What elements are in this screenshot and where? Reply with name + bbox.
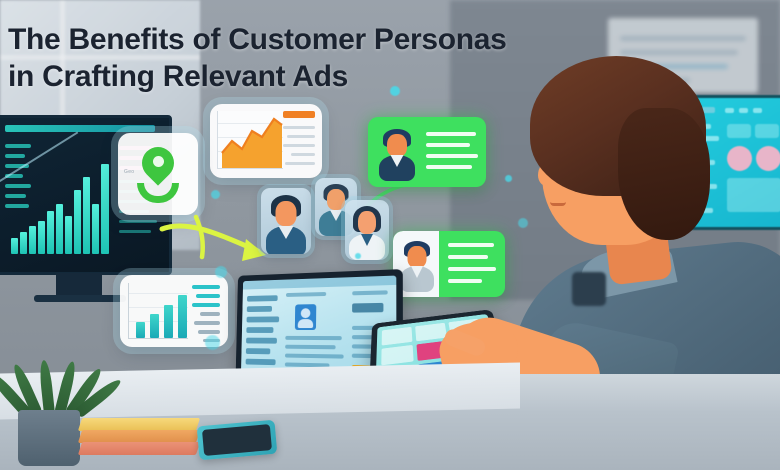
persona-profile-card-green-1[interactable]: [368, 117, 486, 187]
coffee-mug: [572, 272, 606, 306]
pin-arc-icon: [137, 183, 179, 203]
potted-plant: [10, 352, 90, 462]
laptop-avatar-tile: [295, 304, 316, 330]
location-pin-icon: [142, 147, 174, 185]
book-stack: [80, 418, 198, 456]
geo-targeting-card[interactable]: Geo: [118, 133, 198, 215]
geo-card-caption: Geo: [124, 169, 134, 175]
glow-dot: [355, 253, 361, 259]
bar-chart-group: [11, 158, 111, 254]
trend-chart-card[interactable]: [210, 104, 322, 178]
glow-dot: [205, 335, 220, 350]
smartphone[interactable]: [197, 420, 278, 461]
page-title: The Benefits of Customer Personas in Cra…: [8, 22, 528, 95]
title-line-2: in Crafting Relevant Ads: [8, 59, 528, 96]
area-chart: [217, 111, 283, 169]
glow-dot: [211, 190, 220, 199]
avatar: [378, 129, 416, 179]
bar-chart: [128, 283, 188, 339]
title-line-1: The Benefits of Customer Personas: [8, 22, 528, 59]
persona-avatar-1[interactable]: [261, 188, 311, 254]
card-accent-bar: [283, 111, 315, 118]
persona-avatar-3[interactable]: [345, 200, 389, 260]
illustration-canvas: Geo: [0, 0, 780, 470]
dashboard-header-bar: [5, 125, 155, 132]
